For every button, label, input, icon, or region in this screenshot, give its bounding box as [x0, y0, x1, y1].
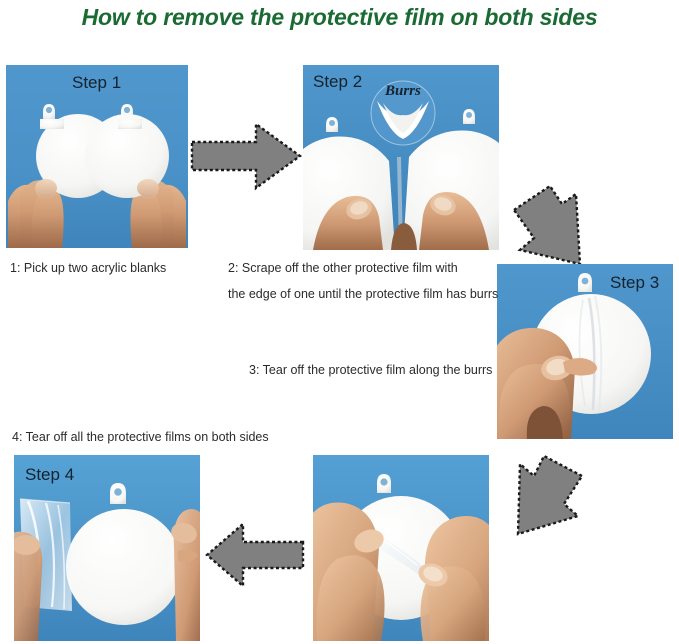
- caption-1: 1: Pick up two acrylic blanks: [10, 255, 166, 281]
- arrow-right-1: [186, 114, 308, 198]
- caption-2-line-1: 2: Scrape off the other protective film …: [228, 255, 498, 281]
- panel-step4: Step 4: [14, 455, 200, 641]
- panel-step3: Step 3: [497, 264, 673, 439]
- caption-2: 2: Scrape off the other protective film …: [228, 255, 498, 307]
- step2-photo: [303, 65, 499, 250]
- caption-3-line-1: 3: Tear off the protective film along th…: [249, 357, 492, 383]
- burrs-callout: [371, 81, 435, 145]
- caption-4-line-1: 4: Tear off all the protective films on …: [12, 424, 269, 450]
- arrow-down-left: [504, 450, 606, 546]
- panel-step1: Step 1: [6, 65, 188, 248]
- step1-photo: [6, 65, 188, 248]
- caption-3: 3: Tear off the protective film along th…: [249, 357, 492, 383]
- step3-photo: [497, 264, 673, 439]
- arrow-left: [203, 514, 309, 596]
- panel-peel-both-sides: [313, 455, 489, 641]
- caption-1-line-1: 1: Pick up two acrylic blanks: [10, 255, 166, 281]
- caption-2-line-2: the edge of one until the protective fil…: [228, 281, 498, 307]
- peel-photo: [313, 455, 489, 641]
- caption-4: 4: Tear off all the protective films on …: [12, 424, 269, 450]
- step4-photo: [14, 455, 200, 641]
- page-title: How to remove the protective film on bot…: [0, 4, 679, 31]
- left-hand: [14, 532, 42, 641]
- infographic-page: How to remove the protective film on bot…: [0, 0, 679, 644]
- panel-step2: Step 2 Burrs: [303, 65, 499, 250]
